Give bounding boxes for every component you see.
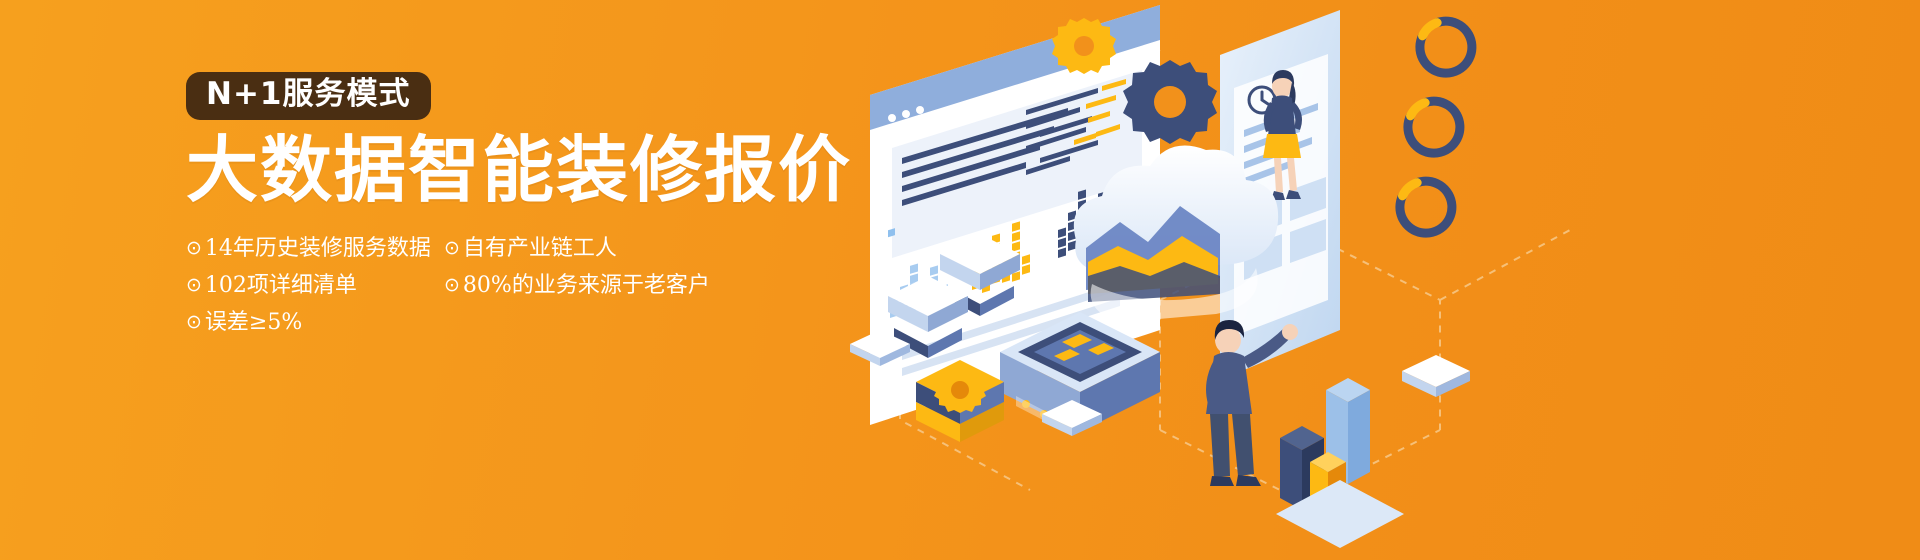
- banner-copy-block: N+1服务模式 大数据智能装修报价 ⊙ 14年历史装修服务数据 ⊙ 自有产业链工…: [186, 72, 886, 341]
- list-item-label: 自有产业链工人: [463, 230, 617, 267]
- list-item: ⊙ 14年历史装修服务数据: [186, 230, 444, 267]
- list-item: ⊙ 自有产业链工人: [444, 230, 706, 267]
- hero-illustration: [830, 0, 1920, 560]
- bullet-marker-icon: ⊙: [444, 239, 460, 258]
- list-item: ⊙ 102项详细清单: [186, 267, 444, 304]
- bullet-marker-icon: ⊙: [444, 276, 460, 295]
- service-model-badge: N+1服务模式: [186, 72, 431, 120]
- list-item-label: 14年历史装修服务数据: [205, 230, 431, 267]
- list-item-label: 80%的业务来源于老客户: [463, 267, 710, 304]
- bullet-marker-icon: ⊙: [186, 276, 202, 295]
- list-item-label: 102项详细清单: [205, 267, 357, 304]
- feature-bullet-list: ⊙ 14年历史装修服务数据 ⊙ 自有产业链工人 ⊙ 102项详细清单 ⊙ 80%…: [186, 230, 706, 341]
- bullet-marker-icon: ⊙: [186, 313, 202, 332]
- bullet-marker-icon: ⊙: [186, 239, 202, 258]
- list-item: ⊙ 80%的业务来源于老客户: [444, 267, 706, 304]
- banner-headline: 大数据智能装修报价: [186, 134, 886, 206]
- loading-rings: [1393, 14, 1479, 240]
- list-item-label: 误差≥5%: [205, 304, 302, 341]
- list-item: ⊙ 误差≥5%: [186, 304, 444, 341]
- promo-banner: N+1服务模式 大数据智能装修报价 ⊙ 14年历史装修服务数据 ⊙ 自有产业链工…: [0, 0, 1920, 560]
- bar-chart-blocks: [1276, 378, 1404, 548]
